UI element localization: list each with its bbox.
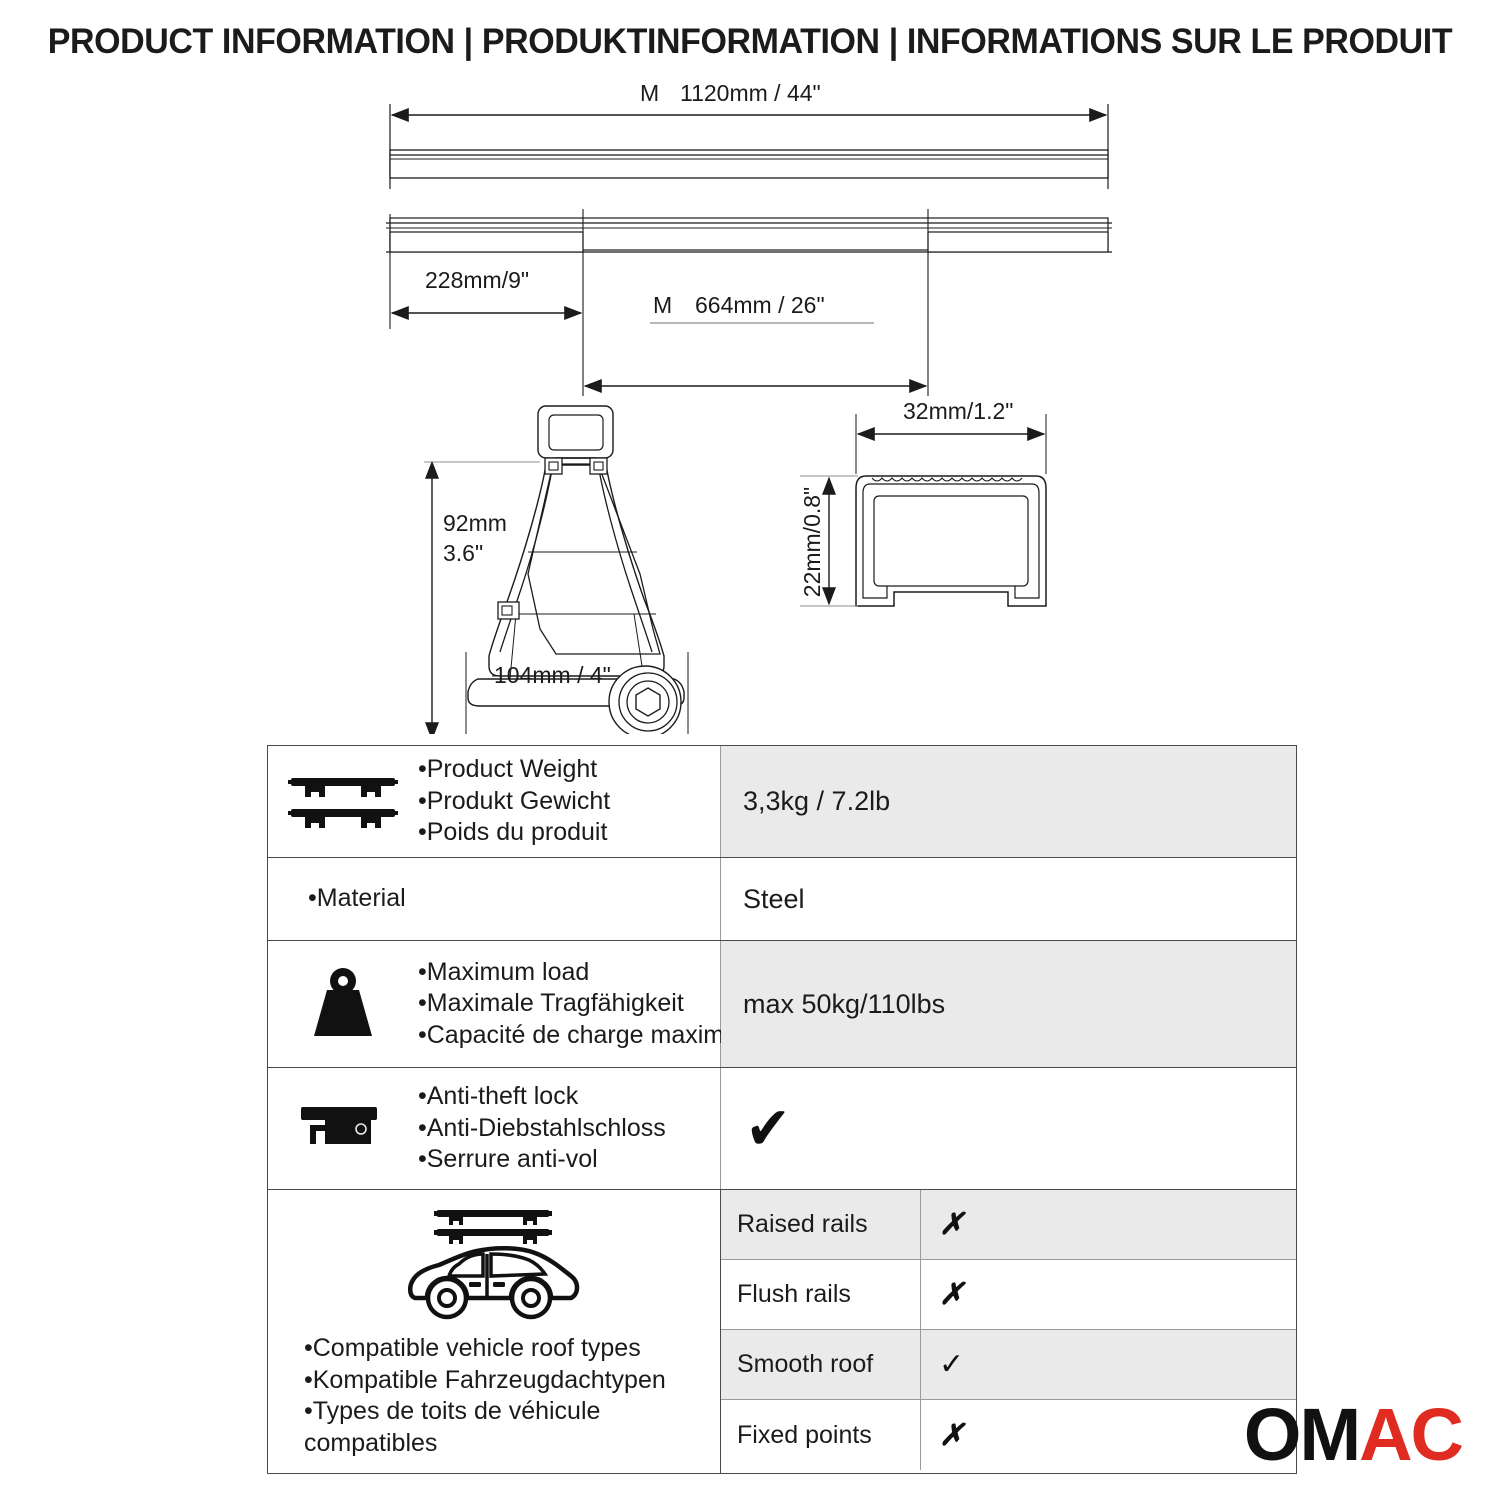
product-weight-value: 3,3kg / 7.2lb (721, 746, 1296, 857)
checkmark-icon: ✓ (939, 1347, 964, 1382)
roof-type-mark: ✗ (921, 1260, 1296, 1329)
label-line-en: •Compatible vehicle roof types (304, 1333, 666, 1365)
label-line-fr-cont: compatibles (304, 1428, 666, 1460)
logo-text-ac: AC (1359, 1398, 1462, 1472)
label-line-en: •Anti-theft lock (418, 1081, 666, 1113)
lock-icon-svg (295, 1101, 391, 1157)
label-line-de: •Maximale Tragfähigkeit (418, 988, 757, 1020)
cross-icon: ✗ (939, 1277, 964, 1312)
label-line-fr: •Capacité de charge maximale (418, 1020, 757, 1052)
drawing-svg: M 1120mm / 44" 228mm/9" M 664mm / 26" (0, 84, 1500, 734)
compat-label-cell: •Compatible vehicle roof types •Kompatib… (268, 1190, 721, 1473)
row-label-cell: •Maximum load •Maximale Tragfähigkeit •C… (268, 941, 721, 1067)
row-label-text: •Product Weight •Produkt Gewicht •Poids … (418, 754, 614, 849)
label-line-de: •Kompatible Fahrzeugdachtypen (304, 1365, 666, 1397)
bar-length-label: 1120mm / 44" (680, 84, 821, 106)
car-with-roofbars-icon (401, 1198, 587, 1329)
crossbar-top-view (390, 104, 1108, 189)
label-line-fr: •Poids du produit (418, 817, 610, 849)
roof-type-name: Raised rails (721, 1190, 921, 1259)
roof-type-name: Fixed points (721, 1400, 921, 1470)
foot-offset-label: 228mm/9" (425, 267, 529, 293)
row-label-text: •Anti-theft lock •Anti-Diebstahlschloss … (418, 1081, 670, 1176)
cross-icon: ✗ (939, 1207, 964, 1242)
label-line-en: •Maximum load (418, 957, 757, 989)
technical-drawing: M 1120mm / 44" 228mm/9" M 664mm / 26" (0, 84, 1500, 734)
foot-width-label: 104mm / 4" (494, 662, 611, 688)
table-row-material: •Material Steel (268, 858, 1296, 941)
table-row-maximum-load: •Maximum load •Maximale Tragfähigkeit •C… (268, 941, 1296, 1068)
compat-label-text: •Compatible vehicle roof types •Kompatib… (268, 1329, 666, 1459)
page-header: PRODUCT INFORMATION | PRODUKTINFORMATION… (0, 0, 1500, 84)
row-label-cell: •Anti-theft lock •Anti-Diebstahlschloss … (268, 1068, 721, 1189)
row-label-cell: •Product Weight •Produkt Gewicht •Poids … (268, 746, 721, 857)
car-with-roofbars-icon-svg (401, 1198, 587, 1324)
roof-types-list: Raised rails ✗ Flush rails ✗ Smooth roof… (721, 1190, 1296, 1473)
anti-theft-lock-value: ✔ (721, 1068, 1296, 1189)
weight-icon-svg (306, 966, 380, 1042)
roof-type-name: Flush rails (721, 1260, 921, 1329)
omac-logo: OM AC (1244, 1398, 1462, 1472)
label-line-material: •Material (308, 883, 406, 915)
spread-prefix: M (653, 292, 672, 318)
bar-length-prefix: M (640, 84, 659, 106)
roof-type-row-flush-rails: Flush rails ✗ (721, 1260, 1296, 1330)
spread-label: 664mm / 26" (695, 292, 825, 318)
profile-width-label: 32mm/1.2" (903, 398, 1013, 424)
checkmark-icon: ✔ (746, 1099, 791, 1159)
logo-text-om: OM (1244, 1398, 1359, 1472)
roof-type-name: Smooth roof (721, 1330, 921, 1399)
label-line-fr: •Types de toits de véhicule (304, 1396, 666, 1428)
table-row-anti-theft-lock: •Anti-theft lock •Anti-Diebstahlschloss … (268, 1068, 1296, 1190)
label-line-de: •Anti-Diebstahlschloss (418, 1113, 666, 1145)
profile-height-label: 22mm/0.8" (799, 487, 825, 597)
roof-type-mark: ✗ (921, 1190, 1296, 1259)
roof-type-mark: ✓ (921, 1330, 1296, 1399)
maximum-load-value: max 50kg/110lbs (721, 941, 1296, 1067)
roof-type-mark: ✗ (921, 1400, 1296, 1470)
material-value: Steel (721, 858, 1296, 940)
row-label-text: •Maximum load •Maximale Tragfähigkeit •C… (418, 957, 761, 1052)
label-line-fr: •Serrure anti-vol (418, 1144, 666, 1176)
label-line-de: •Produkt Gewicht (418, 786, 610, 818)
profile-cross-section (800, 414, 1046, 606)
roof-type-row-smooth-roof: Smooth roof ✓ (721, 1330, 1296, 1400)
roof-bars-icon-svg (287, 771, 399, 833)
roof-type-row-fixed-points: Fixed points ✗ (721, 1400, 1296, 1470)
specification-table: •Product Weight •Produkt Gewicht •Poids … (267, 745, 1297, 1474)
row-label-cell: •Material (268, 858, 721, 940)
page-title: PRODUCT INFORMATION | PRODUKTINFORMATION… (48, 22, 1452, 62)
weight-icon (268, 966, 418, 1042)
table-row-compatible-roof-types: •Compatible vehicle roof types •Kompatib… (268, 1190, 1296, 1473)
roof-type-row-raised-rails: Raised rails ✗ (721, 1190, 1296, 1260)
roof-bars-icon (268, 771, 418, 833)
cross-icon: ✗ (939, 1418, 964, 1453)
label-line-en: •Product Weight (418, 754, 610, 786)
table-row-product-weight: •Product Weight •Produkt Gewicht •Poids … (268, 746, 1296, 858)
foot-height-line2: 3.6" (443, 540, 483, 566)
foot-height-line1: 92mm (443, 510, 507, 536)
lock-icon (268, 1101, 418, 1157)
row-label-text: •Material (308, 883, 410, 915)
